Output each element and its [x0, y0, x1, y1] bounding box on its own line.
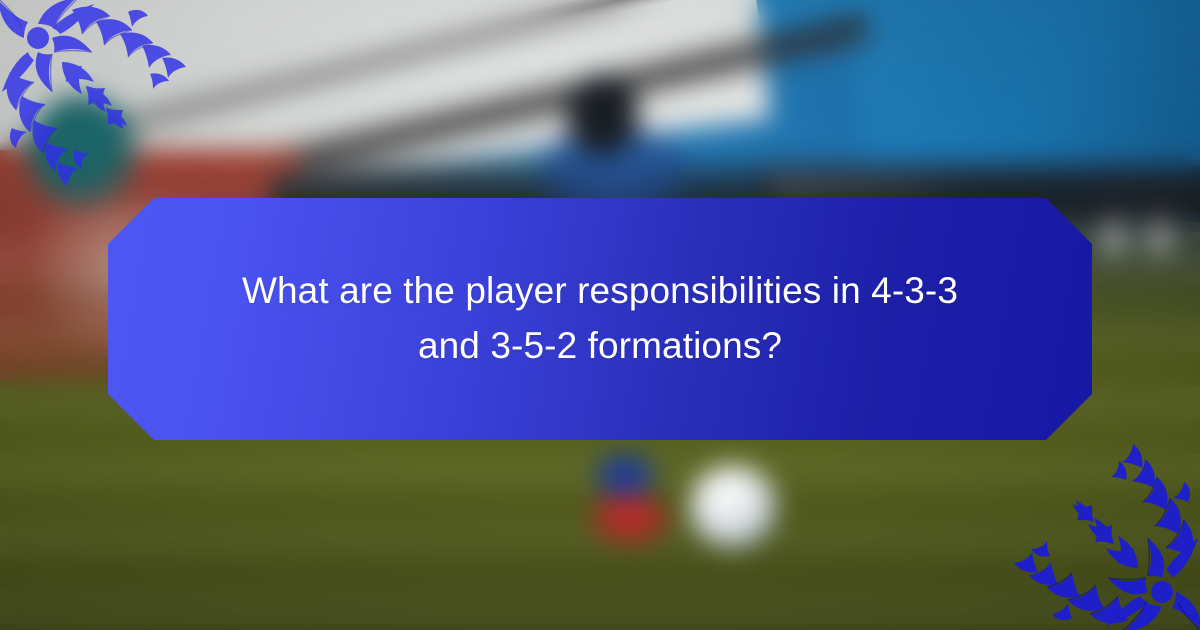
question-text: What are the player responsibilities in …: [220, 264, 980, 374]
share-card: What are the player responsibilities in …: [0, 0, 1200, 630]
floral-ornament-icon: [1014, 444, 1200, 630]
question-banner: What are the player responsibilities in …: [108, 198, 1092, 440]
corner-ornament-bottom-right: [1000, 415, 1200, 630]
corner-ornament-top-left: [0, 0, 200, 215]
floral-ornament-icon: [0, 0, 186, 186]
